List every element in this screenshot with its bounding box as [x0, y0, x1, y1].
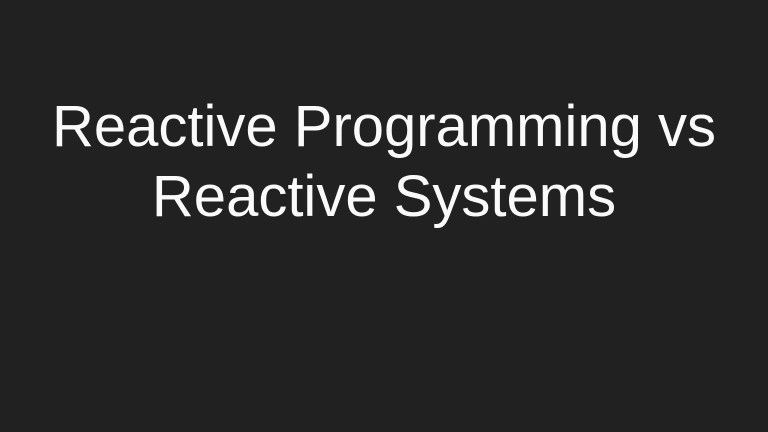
title-line-2: Reactive Systems	[24, 162, 744, 232]
title-line-1: Reactive Programming vs	[24, 92, 744, 162]
slide-title: Reactive Programming vs Reactive Systems	[0, 92, 768, 232]
title-slide: Reactive Programming vs Reactive Systems	[0, 0, 768, 432]
